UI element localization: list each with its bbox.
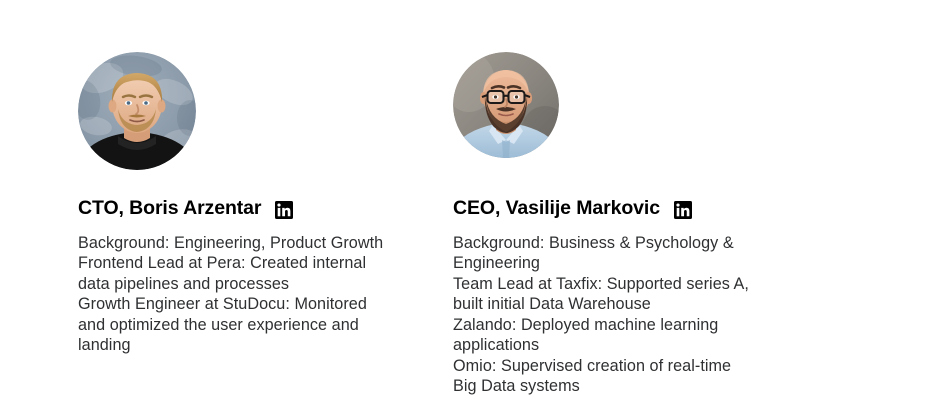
bio-line: Background: Business & Psychology & xyxy=(453,233,805,254)
profile-card-vasilije-markovic: CEO, Vasilije Markovic Background: Busin… xyxy=(442,0,948,412)
profile-name-boris-arzentar: CTO, Boris Arzentar xyxy=(78,199,261,219)
bio-line: Team Lead at Taxfix: Supported series A, xyxy=(453,274,805,295)
bio-line: Engineering xyxy=(453,253,805,274)
bio-line: applications xyxy=(453,335,805,356)
bio-line: Growth Engineer at StuDocu: Monitored xyxy=(78,294,428,315)
bio-line: landing xyxy=(78,335,428,356)
avatar-boris-arzentar xyxy=(78,52,196,170)
bio-line: built initial Data Warehouse xyxy=(453,294,805,315)
bio-line: and optimized the user experience and xyxy=(78,315,428,336)
bio-line: data pipelines and processes xyxy=(78,274,428,295)
profile-bio-boris-arzentar: Background: Engineering, Product Growth … xyxy=(78,233,428,356)
profile-bio-vasilije-markovic: Background: Business & Psychology & Engi… xyxy=(453,233,805,397)
bio-line: Zalando: Deployed machine learning xyxy=(453,315,805,336)
bio-line: Big Data systems xyxy=(453,376,805,397)
profile-name-row-vasilije-markovic: CEO, Vasilije Markovic xyxy=(453,199,948,219)
bio-line: Omio: Supervised creation of real-time xyxy=(453,356,805,377)
profile-name-vasilije-markovic: CEO, Vasilije Markovic xyxy=(453,199,660,219)
bio-line: Background: Engineering, Product Growth xyxy=(78,233,428,254)
linkedin-icon[interactable] xyxy=(674,201,692,219)
profile-card-boris-arzentar: CTO, Boris Arzentar Background: Engineer… xyxy=(0,0,442,412)
bio-line: Frontend Lead at Pera: Created internal xyxy=(78,253,428,274)
avatar-vasilije-markovic xyxy=(453,52,559,158)
team-profiles-grid: CTO, Boris Arzentar Background: Engineer… xyxy=(0,0,948,412)
profile-name-row-boris-arzentar: CTO, Boris Arzentar xyxy=(78,199,442,219)
linkedin-icon[interactable] xyxy=(275,201,293,219)
